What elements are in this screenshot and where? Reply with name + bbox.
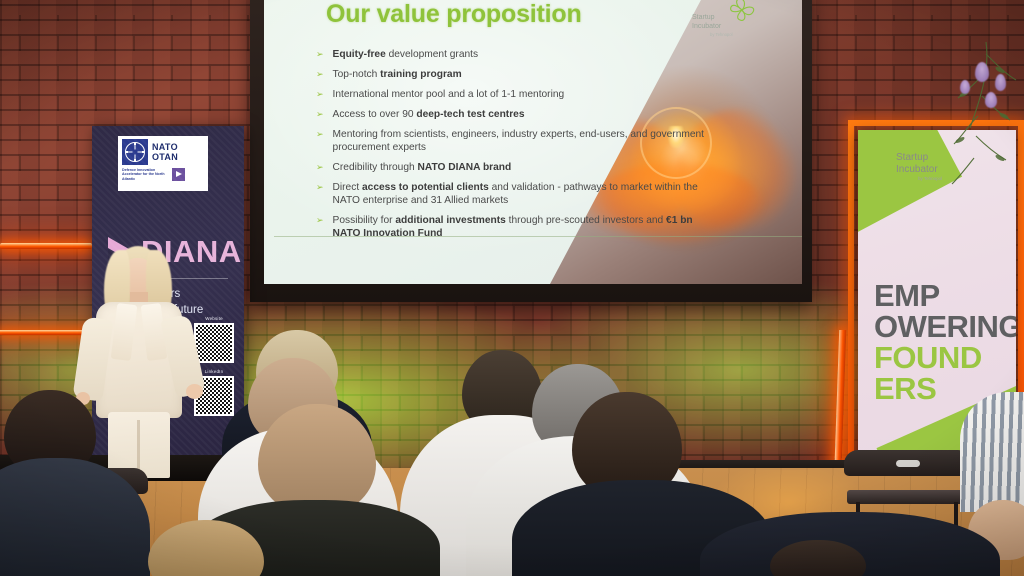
banner-headline-line: EMP <box>874 280 1016 311</box>
nato-subtitle-row: Defence Innovation Accelerator for the N… <box>122 168 204 181</box>
bullet-marker-icon: ➢ <box>316 181 324 194</box>
logo-line-1: Startup <box>692 14 715 21</box>
bullet-marker-icon: ➢ <box>316 161 324 174</box>
presentation-slide: Our value proposition Startup Incubator … <box>264 0 802 284</box>
nato-logo-box: NATO OTAN Defence Innovation Accelerator… <box>118 136 208 191</box>
slide-bullet-text: Equity-free development grants <box>333 48 706 61</box>
slide-bullet-text: Access to over 90 deep-tech test centres <box>333 108 706 121</box>
banner-headline-line: FOUND <box>874 342 1016 373</box>
nato-subtitle: Defence Innovation Accelerator for the N… <box>122 168 168 181</box>
purple-flower-3 <box>985 92 997 108</box>
startup-incubator-byline: by Tehnopol <box>710 32 733 37</box>
purple-flower-1 <box>975 62 989 82</box>
banner-logo-line-2: Incubator <box>896 164 986 176</box>
banner-headline-line: OWERING <box>874 311 1016 342</box>
slide-bullet-item: ➢Mentoring from scientists, engineers, i… <box>316 128 706 154</box>
banner-logo-line-1: Startup <box>896 152 986 164</box>
bullet-marker-icon: ➢ <box>316 48 324 61</box>
nato-line-1: NATO <box>152 142 178 152</box>
slide-bullet-text: International mentor pool and a lot of 1… <box>333 88 706 101</box>
projection-screen-frame: Our value proposition Startup Incubator … <box>250 0 812 302</box>
slide-bullet-item: ➢Direct access to potential clients and … <box>316 181 706 207</box>
slide-bullet-text: Direct access to potential clients and v… <box>333 181 706 207</box>
slide-bullet-item: ➢Credibility through NATO DIANA brand <box>316 161 706 174</box>
nato-logo-row: NATO OTAN <box>122 139 204 165</box>
startup-incubator-logo: Startup Incubator by Tehnopol <box>690 0 768 46</box>
slide-bullet-text: Mentoring from scientists, engineers, in… <box>333 128 706 154</box>
startup-incubator-logo-text: Startup Incubator <box>692 14 721 31</box>
diana-play-icon <box>172 168 185 181</box>
slide-bullet-text: Credibility through NATO DIANA brand <box>333 161 706 174</box>
chair-back <box>844 450 972 476</box>
bullet-marker-icon: ➢ <box>316 68 324 81</box>
slide-bullet-text: Top-notch training program <box>333 68 706 81</box>
bullet-marker-icon: ➢ <box>316 88 324 101</box>
slide-bullet-item: ➢International mentor pool and a lot of … <box>316 88 706 101</box>
nato-compass-icon <box>122 139 148 165</box>
presenter-hand-right <box>186 384 203 399</box>
presentation-scene: Our value proposition Startup Incubator … <box>0 0 1024 576</box>
slide-title: Our value proposition <box>326 0 582 29</box>
slide-bullet-item: ➢Top-notch training program <box>316 68 706 81</box>
bullet-marker-icon: ➢ <box>316 214 324 227</box>
slide-footer-rule <box>274 236 802 237</box>
slide-bullet-item: ➢Equity-free development grants <box>316 48 706 61</box>
banner-logo-byline: by Tehnopol <box>918 176 986 181</box>
bullet-marker-icon: ➢ <box>316 128 324 141</box>
slide-bullet-item: ➢Access to over 90 deep-tech test centre… <box>316 108 706 121</box>
nato-wordmark: NATO OTAN <box>152 142 178 162</box>
logo-line-2: Incubator <box>692 23 721 30</box>
banner-startup-incubator-logo: Startup Incubator by Tehnopol <box>896 152 986 192</box>
nato-line-2: OTAN <box>152 152 178 162</box>
slide-bullet-list: ➢Equity-free development grants➢Top-notc… <box>316 48 706 247</box>
empowering-founders-headline: EMPOWERINGFOUNDERS <box>874 280 1016 404</box>
chair-seat <box>847 490 970 504</box>
purple-flower-4 <box>960 80 970 94</box>
purple-flower-2 <box>995 74 1006 91</box>
bullet-marker-icon: ➢ <box>316 108 324 121</box>
